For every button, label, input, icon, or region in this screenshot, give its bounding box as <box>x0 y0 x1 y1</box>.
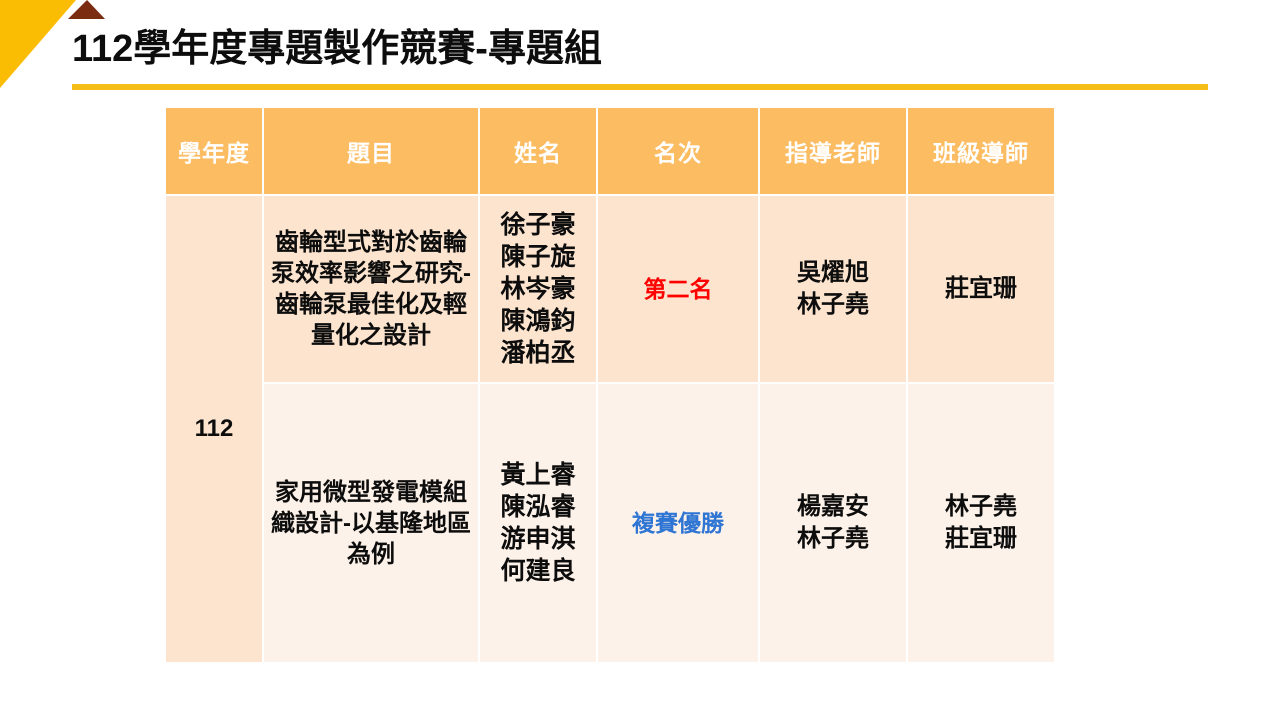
column-header-student-name: 姓名 <box>480 108 598 196</box>
competition-results-table: 學年度 題目 姓名 名次 指導老師 班級導師 112 齒輪型式對於齒輪泵效率影響… <box>166 108 1054 664</box>
table-row: 家用微型發電模組織設計-以基隆地區為例 黃上睿 陳泓睿 游申淇 何建良 複賽優勝… <box>166 384 1054 664</box>
brown-arrow-marker <box>68 0 105 19</box>
cell-student-names: 徐子豪 陳子旋 林岑豪 陳鴻鈞 潘柏丞 <box>480 196 598 384</box>
cell-class-teachers: 林子堯 莊宜珊 <box>908 384 1054 664</box>
column-header-class-teacher: 班級導師 <box>908 108 1054 196</box>
page-title: 112學年度專題製作競賽-專題組 <box>72 24 1212 74</box>
cell-rank: 複賽優勝 <box>598 384 760 664</box>
title-block: 112學年度專題製作競賽-專題組 <box>72 24 1212 74</box>
cell-academic-year: 112 <box>166 196 264 664</box>
cell-advisors: 楊嘉安 林子堯 <box>760 384 908 664</box>
cell-rank: 第二名 <box>598 196 760 384</box>
cell-class-teachers: 莊宜珊 <box>908 196 1054 384</box>
column-header-advisor: 指導老師 <box>760 108 908 196</box>
column-header-rank: 名次 <box>598 108 760 196</box>
table-header-row: 學年度 題目 姓名 名次 指導老師 班級導師 <box>166 108 1054 196</box>
column-header-topic: 題目 <box>264 108 480 196</box>
title-underline-rule <box>72 84 1208 90</box>
cell-student-names: 黃上睿 陳泓睿 游申淇 何建良 <box>480 384 598 664</box>
cell-advisors: 吳燿旭 林子堯 <box>760 196 908 384</box>
column-header-academic-year: 學年度 <box>166 108 264 196</box>
cell-topic: 齒輪型式對於齒輪泵效率影響之研究-齒輪泵最佳化及輕量化之設計 <box>264 196 480 384</box>
table-row: 112 齒輪型式對於齒輪泵效率影響之研究-齒輪泵最佳化及輕量化之設計 徐子豪 陳… <box>166 196 1054 384</box>
cell-topic: 家用微型發電模組織設計-以基隆地區為例 <box>264 384 480 664</box>
yellow-corner-triangle <box>0 0 76 88</box>
